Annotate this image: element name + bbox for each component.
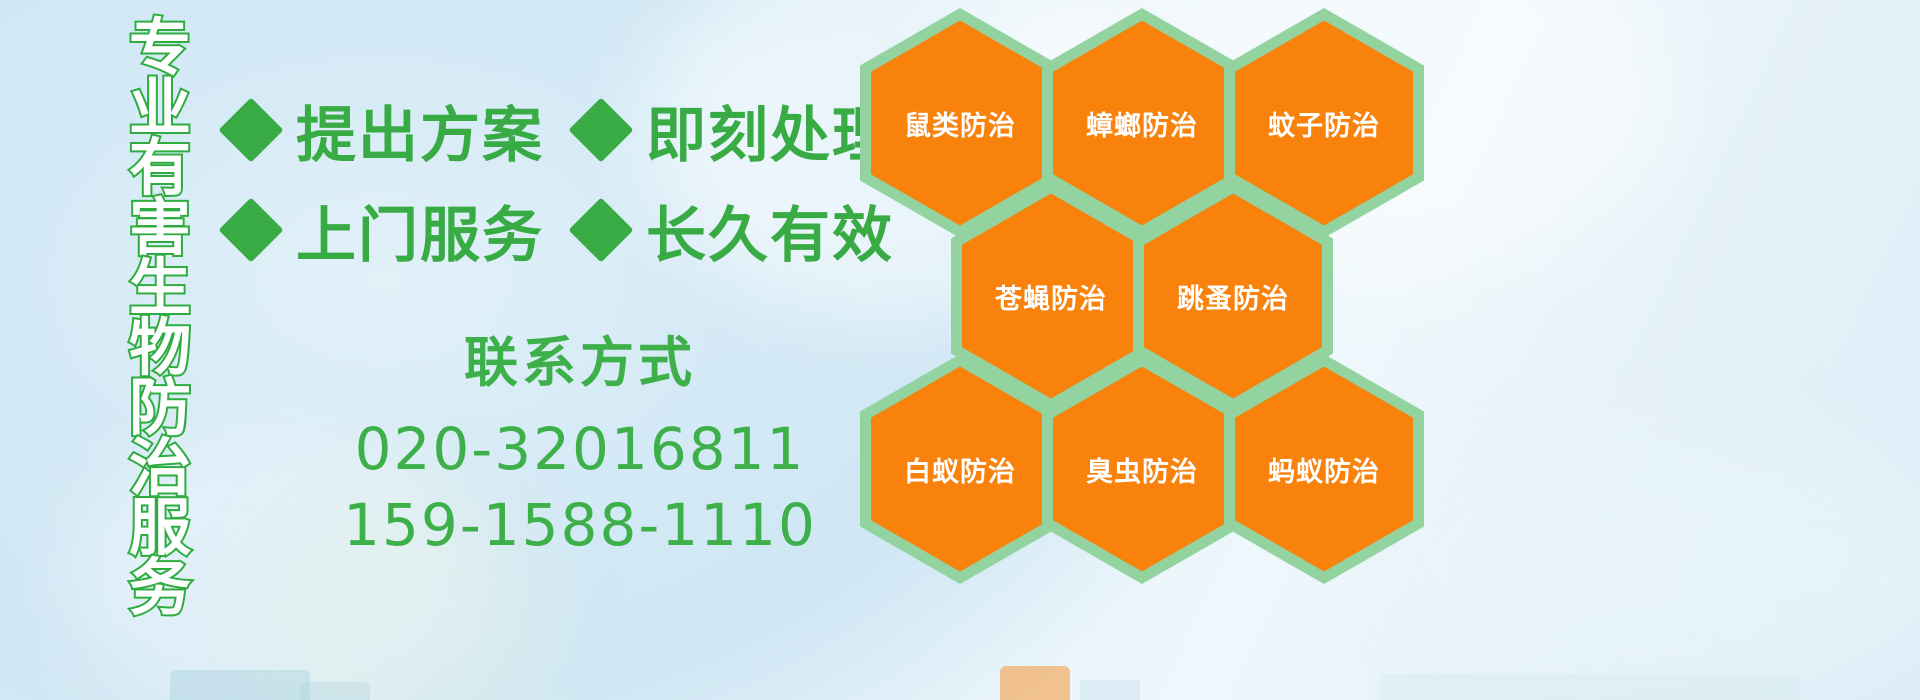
feature-item: 提出方案 [228, 87, 544, 174]
hexagon-inner: 苍蝇防治 [962, 194, 1140, 399]
service-label: 蚊子防治 [1268, 104, 1380, 143]
vertical-title-char: 服 [129, 498, 191, 558]
feature-label: 长久有效 [646, 187, 894, 274]
background-decoration-3 [1000, 666, 1070, 700]
feature-label: 提出方案 [296, 87, 544, 174]
vertical-title-char: 害 [129, 198, 191, 258]
contact-label: 联系方式 [300, 318, 860, 397]
feature-label: 即刻处理 [646, 87, 894, 174]
background-decoration-5 [1380, 674, 1800, 700]
service-label: 鼠类防治 [904, 104, 1016, 143]
background-glow-4 [1380, 430, 1920, 690]
vertical-title-char: 务 [129, 558, 191, 618]
contact-phone-mobile[interactable]: 159-1588-1110 [300, 487, 860, 563]
service-label: 白蚁防治 [904, 450, 1016, 489]
service-label: 臭虫防治 [1086, 450, 1198, 489]
feature-row: 上门服务 长久有效 [228, 180, 868, 280]
vertical-title-char: 生 [129, 258, 191, 318]
diamond-bullet-icon [218, 97, 283, 162]
hexagon-inner: 蟑螂防治 [1053, 21, 1231, 226]
vertical-title-char: 防 [129, 378, 191, 438]
contact-phone-landline[interactable]: 020-32016811 [300, 411, 860, 487]
diamond-bullet-icon [568, 197, 633, 262]
feature-item: 即刻处理 [578, 87, 894, 174]
service-hexagon-grid: 鼠类防治 蟑螂防治 蚊子防治 苍蝇防治 跳蚤防治 白蚁防治 [860, 0, 1460, 560]
diamond-bullet-icon [218, 197, 283, 262]
vertical-title-char: 业 [129, 78, 191, 138]
background-decoration-1 [170, 670, 310, 700]
vertical-title-char: 治 [129, 438, 191, 498]
vertical-title: 专 业 有 害 生 物 防 治 服 务 [108, 18, 212, 558]
feature-row: 提出方案 即刻处理 [228, 80, 868, 180]
background-decoration-4 [1080, 680, 1140, 700]
feature-list: 提出方案 即刻处理 上门服务 长久有效 [228, 80, 868, 280]
hexagon-inner: 蚊子防治 [1235, 21, 1413, 226]
vertical-title-char: 物 [129, 318, 191, 378]
service-label: 跳蚤防治 [1177, 277, 1289, 316]
contact-block: 联系方式 020-32016811 159-1588-1110 [300, 318, 860, 563]
vertical-title-char: 专 [129, 18, 191, 78]
service-label: 苍蝇防治 [995, 277, 1107, 316]
feature-item: 长久有效 [578, 187, 894, 274]
background-decoration-2 [300, 682, 370, 700]
vertical-title-char: 有 [129, 138, 191, 198]
feature-item: 上门服务 [228, 187, 544, 274]
hexagon-inner: 鼠类防治 [871, 21, 1049, 226]
feature-label: 上门服务 [296, 187, 544, 274]
service-label: 蚂蚁防治 [1268, 450, 1380, 489]
hexagon-inner: 白蚁防治 [871, 367, 1049, 572]
promo-banner: 专 业 有 害 生 物 防 治 服 务 提出方案 即刻处理 上门服务 [0, 0, 1920, 700]
hexagon-inner: 臭虫防治 [1053, 367, 1231, 572]
hexagon-inner: 蚂蚁防治 [1235, 367, 1413, 572]
diamond-bullet-icon [568, 97, 633, 162]
hexagon-inner: 跳蚤防治 [1144, 194, 1322, 399]
service-label: 蟑螂防治 [1086, 104, 1198, 143]
